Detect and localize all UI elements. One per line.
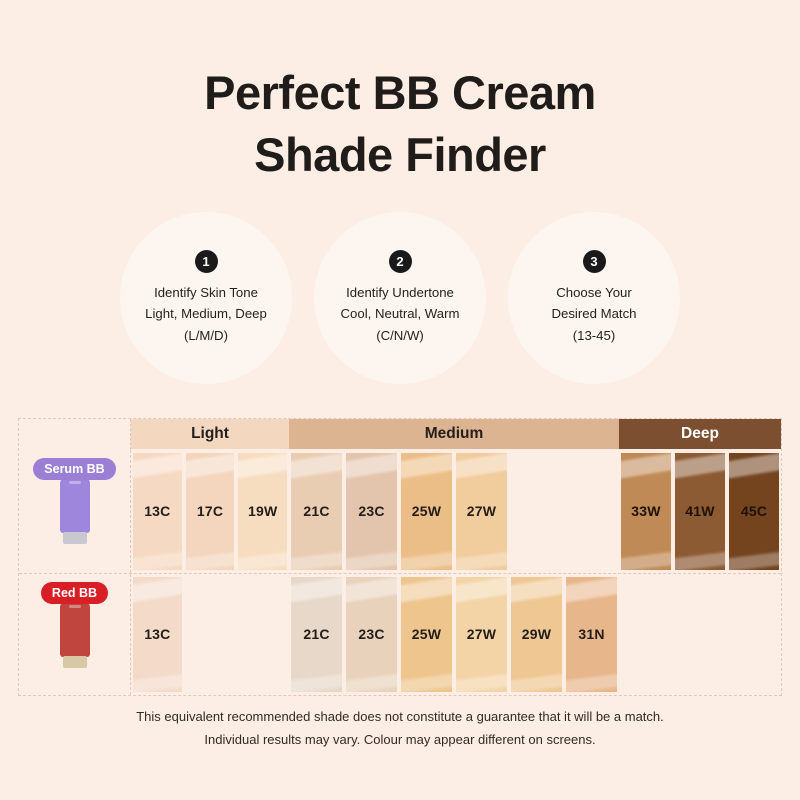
swatch-smear-lower [238, 551, 287, 570]
shade-swatch-empty [675, 577, 725, 693]
swatch-smear [346, 453, 397, 479]
step-3-number: 3 [583, 250, 606, 273]
shade-swatch-red-bb-13C[interactable]: 13C [133, 577, 182, 693]
swatch-smear [566, 577, 617, 603]
step-2-line-1: Identify Undertone [341, 282, 460, 303]
product-row-red-bb: Red BB 13C 21C23C25W27W29W31N [19, 573, 781, 696]
swatch-smear-lower [401, 673, 452, 692]
swatch-smear-lower [621, 551, 671, 570]
disclaimer: This equivalent recommended shade does n… [0, 706, 800, 752]
swatch-smear [675, 453, 725, 479]
swatch-smear [133, 453, 182, 479]
product-label-red-bb: Red BB [19, 574, 131, 696]
swatch-smear-lower [511, 673, 562, 692]
red-bb-tube-seam [69, 605, 81, 608]
shade-swatch-serum-bb-45C[interactable]: 45C [729, 453, 779, 570]
serum-bb-tube-seam [69, 481, 81, 484]
step-2-line-2: Cool, Neutral, Warm [341, 303, 460, 324]
shade-swatch-serum-bb-23C[interactable]: 23C [346, 453, 397, 570]
step-1-text: Identify Skin Tone Light, Medium, Deep (… [145, 282, 267, 346]
swatch-cell [564, 450, 619, 573]
swatch-cell: 17C [184, 450, 237, 573]
red-bb-medium-group: 21C23C25W27W29W31N [289, 574, 619, 696]
shade-code: 21C [303, 626, 329, 642]
red-bb-badge: Red BB [41, 582, 108, 604]
tone-band-deep: Deep [619, 419, 781, 449]
swatch-smear-lower [675, 551, 725, 570]
shade-code: 27W [467, 626, 496, 642]
swatch-cell: 29W [509, 574, 564, 696]
step-1-line-2: Light, Medium, Deep [145, 303, 267, 324]
shade-swatch-empty [511, 453, 562, 570]
header-corner-spacer [19, 419, 131, 450]
swatch-smear-lower [401, 551, 452, 570]
swatch-cell: 27W [454, 450, 509, 573]
swatch-cell: 41W [673, 450, 727, 573]
serum-bb-swatches: 13C17C19W 21C23C25W27W 33W41W45C [131, 450, 781, 573]
shade-swatch-empty [729, 577, 779, 693]
shade-swatch-empty [621, 577, 671, 693]
step-3-line-1: Choose Your [551, 282, 636, 303]
red-bb-tube-cap [63, 656, 87, 668]
swatch-smear-lower [133, 673, 182, 692]
step-1-line-3: (L/M/D) [145, 325, 267, 346]
swatch-cell: 19W [236, 450, 289, 573]
swatch-cell: 23C [344, 574, 399, 696]
swatch-smear [401, 453, 452, 479]
shade-code: 23C [358, 626, 384, 642]
swatch-smear [133, 577, 182, 603]
step-2-line-3: (C/N/W) [341, 325, 460, 346]
title-line-2: Shade Finder [0, 124, 800, 186]
swatch-smear [291, 453, 342, 479]
swatch-smear [186, 453, 235, 479]
tone-band-medium-cell: Medium [289, 419, 619, 450]
step-2: 2 Identify Undertone Cool, Neutral, Warm… [314, 212, 486, 384]
steps-row: 1 Identify Skin Tone Light, Medium, Deep… [0, 212, 800, 384]
shade-swatch-serum-bb-25W[interactable]: 25W [401, 453, 452, 570]
shade-swatch-serum-bb-17C[interactable]: 17C [186, 453, 235, 570]
shade-swatch-red-bb-25W[interactable]: 25W [401, 577, 452, 693]
swatch-smear-lower [291, 673, 342, 692]
serum-bb-tube-cap [63, 532, 87, 544]
shade-swatch-red-bb-29W[interactable]: 29W [511, 577, 562, 693]
swatch-smear [291, 577, 342, 603]
shade-code: 13C [144, 503, 170, 519]
tone-band-deep-cell: Deep [619, 419, 781, 450]
disclaimer-line-1: This equivalent recommended shade does n… [0, 706, 800, 729]
swatch-cell [619, 574, 673, 696]
title-line-1: Perfect BB Cream [0, 62, 800, 124]
shade-swatch-empty [566, 453, 617, 570]
step-3-text: Choose Your Desired Match (13-45) [551, 282, 636, 346]
step-1: 1 Identify Skin Tone Light, Medium, Deep… [120, 212, 292, 384]
page-title: Perfect BB Cream Shade Finder [0, 0, 800, 186]
step-3-line-3: (13-45) [551, 325, 636, 346]
tone-band-light: Light [131, 419, 289, 449]
swatch-cell: 21C [289, 450, 344, 573]
serum-bb-badge: Serum BB [33, 458, 115, 480]
shade-swatch-serum-bb-41W[interactable]: 41W [675, 453, 725, 570]
swatch-smear-lower [346, 551, 397, 570]
swatch-cell: 25W [399, 574, 454, 696]
disclaimer-line-2: Individual results may vary. Colour may … [0, 729, 800, 752]
step-2-text: Identify Undertone Cool, Neutral, Warm (… [341, 282, 460, 346]
step-3-line-2: Desired Match [551, 303, 636, 324]
step-1-line-1: Identify Skin Tone [145, 282, 267, 303]
shade-swatch-red-bb-23C[interactable]: 23C [346, 577, 397, 693]
shade-swatch-serum-bb-33W[interactable]: 33W [621, 453, 671, 570]
shade-swatch-empty [238, 577, 287, 693]
shade-code: 21C [303, 503, 329, 519]
shade-swatch-serum-bb-13C[interactable]: 13C [133, 453, 182, 570]
swatch-smear-lower [291, 551, 342, 570]
serum-bb-light-group: 13C17C19W [131, 450, 289, 573]
shade-swatch-red-bb-21C[interactable]: 21C [291, 577, 342, 693]
swatch-cell: 13C [131, 574, 184, 696]
step-3: 3 Choose Your Desired Match (13-45) [508, 212, 680, 384]
red-bb-light-group: 13C [131, 574, 289, 696]
shade-chart: Light Medium Deep Serum BB 13C17C19W [18, 418, 782, 696]
swatch-cell: 25W [399, 450, 454, 573]
shade-code: 33W [631, 503, 660, 519]
swatch-smear-lower [346, 673, 397, 692]
swatch-smear [456, 577, 507, 603]
shade-code: 17C [197, 503, 223, 519]
red-bb-deep-group [619, 574, 781, 696]
swatch-cell: 21C [289, 574, 344, 696]
serum-bb-deep-group: 33W41W45C [619, 450, 781, 573]
swatch-cell: 23C [344, 450, 399, 573]
tone-band-medium: Medium [289, 419, 619, 449]
serum-bb-tube-icon [60, 478, 90, 544]
shade-swatch-serum-bb-21C[interactable]: 21C [291, 453, 342, 570]
shade-code: 23C [358, 503, 384, 519]
serum-bb-tube-body [60, 478, 90, 533]
step-2-number: 2 [389, 250, 412, 273]
swatch-smear [238, 453, 287, 479]
swatch-smear-lower [133, 551, 182, 570]
swatch-smear-lower [729, 551, 779, 570]
swatch-cell: 31N [564, 574, 619, 696]
red-bb-swatches: 13C 21C23C25W27W29W31N [131, 574, 781, 696]
tone-band-light-cell: Light [131, 419, 289, 450]
swatch-cell [509, 450, 564, 573]
shade-code: 13C [144, 626, 170, 642]
swatch-smear-lower [186, 551, 235, 570]
product-row-serum-bb: Serum BB 13C17C19W 21C23C25W27W 33W41W45… [19, 450, 781, 573]
swatch-smear [456, 453, 507, 479]
swatch-cell [727, 574, 781, 696]
swatch-cell [236, 574, 289, 696]
swatch-smear-lower [456, 673, 507, 692]
shade-code: 29W [522, 626, 551, 642]
red-bb-tube-icon [60, 602, 90, 668]
product-label-serum-bb: Serum BB [19, 450, 131, 573]
shade-swatch-serum-bb-27W[interactable]: 27W [456, 453, 507, 570]
swatch-smear [401, 577, 452, 603]
swatch-smear [346, 577, 397, 603]
shade-code: 27W [467, 503, 496, 519]
shade-code: 25W [412, 503, 441, 519]
shade-code: 41W [685, 503, 714, 519]
shade-code: 19W [248, 503, 277, 519]
step-1-number: 1 [195, 250, 218, 273]
swatch-cell: 13C [131, 450, 184, 573]
swatch-smear [511, 577, 562, 603]
swatch-smear [621, 453, 671, 479]
shade-swatch-serum-bb-19W[interactable]: 19W [238, 453, 287, 570]
shade-code: 31N [578, 626, 604, 642]
shade-code: 25W [412, 626, 441, 642]
swatch-cell: 27W [454, 574, 509, 696]
shade-code: 45C [741, 503, 767, 519]
tone-band-header: Light Medium Deep [19, 419, 781, 450]
shade-swatch-empty [186, 577, 235, 693]
swatch-cell: 45C [727, 450, 781, 573]
swatch-smear-lower [566, 673, 617, 692]
shade-swatch-red-bb-31N[interactable]: 31N [566, 577, 617, 693]
swatch-smear-lower [456, 551, 507, 570]
serum-bb-medium-group: 21C23C25W27W [289, 450, 619, 573]
swatch-cell: 33W [619, 450, 673, 573]
swatch-smear [729, 453, 779, 479]
shade-swatch-red-bb-27W[interactable]: 27W [456, 577, 507, 693]
red-bb-tube-body [60, 602, 90, 657]
swatch-cell [673, 574, 727, 696]
product-rows: Serum BB 13C17C19W 21C23C25W27W 33W41W45… [19, 450, 781, 695]
swatch-cell [184, 574, 237, 696]
